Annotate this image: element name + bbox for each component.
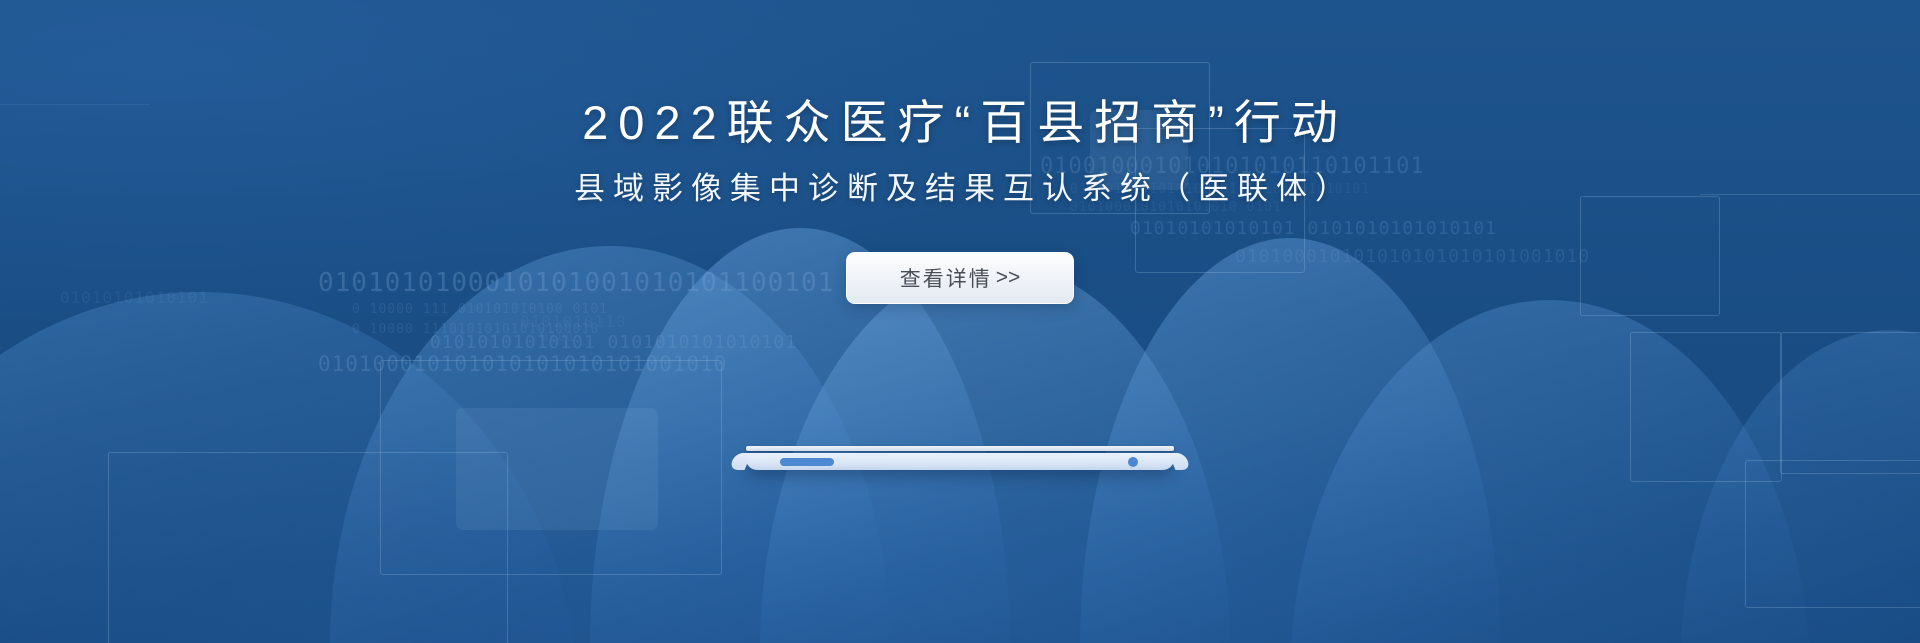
binary-string-7: 0101000101010101010 0101	[1070, 200, 1282, 215]
binary-string-9: 010100010101010101010101001010	[1235, 246, 1590, 267]
binary-string-11: 0101010110	[520, 312, 626, 331]
binary-string-6: 0101010101010101 01010101 01010101	[1070, 182, 1370, 197]
cloud-shape-center-right	[1080, 238, 1500, 643]
outlined-rectangle-bottom-right	[1745, 460, 1920, 608]
binary-string-3: 01010101010101 0101010101010101	[430, 332, 797, 353]
view-details-button[interactable]: 查看详情 >>	[846, 252, 1074, 304]
view-details-label: 查看详情	[900, 263, 992, 293]
binary-string-12: 0101	[540, 330, 575, 345]
horizontal-rule-left	[0, 104, 150, 105]
binary-string-5: 010010001010101010110101101	[1040, 154, 1425, 179]
laptop-base	[746, 453, 1174, 470]
binary-string-0: 0101010100010101001010101100101	[318, 268, 834, 298]
binary-string-8: 01010101010101 0101010101010101	[1130, 218, 1497, 239]
filled-rounded-rectangle-left	[456, 408, 658, 530]
double-chevron-right-icon: >>	[996, 266, 1021, 290]
laptop-trackpad-indicator	[780, 458, 834, 466]
promo-banner: 0101010100010101001010101100101 0 10000 …	[0, 0, 1920, 643]
binary-string-4: 010100010101010101010101001010	[318, 352, 727, 376]
outlined-rectangle-right-c	[1780, 332, 1920, 474]
horizontal-rule-right	[1700, 194, 1920, 195]
laptop-screen-edge	[746, 446, 1174, 451]
laptop-illustration	[746, 446, 1174, 470]
outlined-rectangle-right-a	[1580, 196, 1720, 316]
binary-string-10: 01010101010101	[60, 288, 209, 307]
laptop-power-dot-icon	[1128, 457, 1138, 467]
